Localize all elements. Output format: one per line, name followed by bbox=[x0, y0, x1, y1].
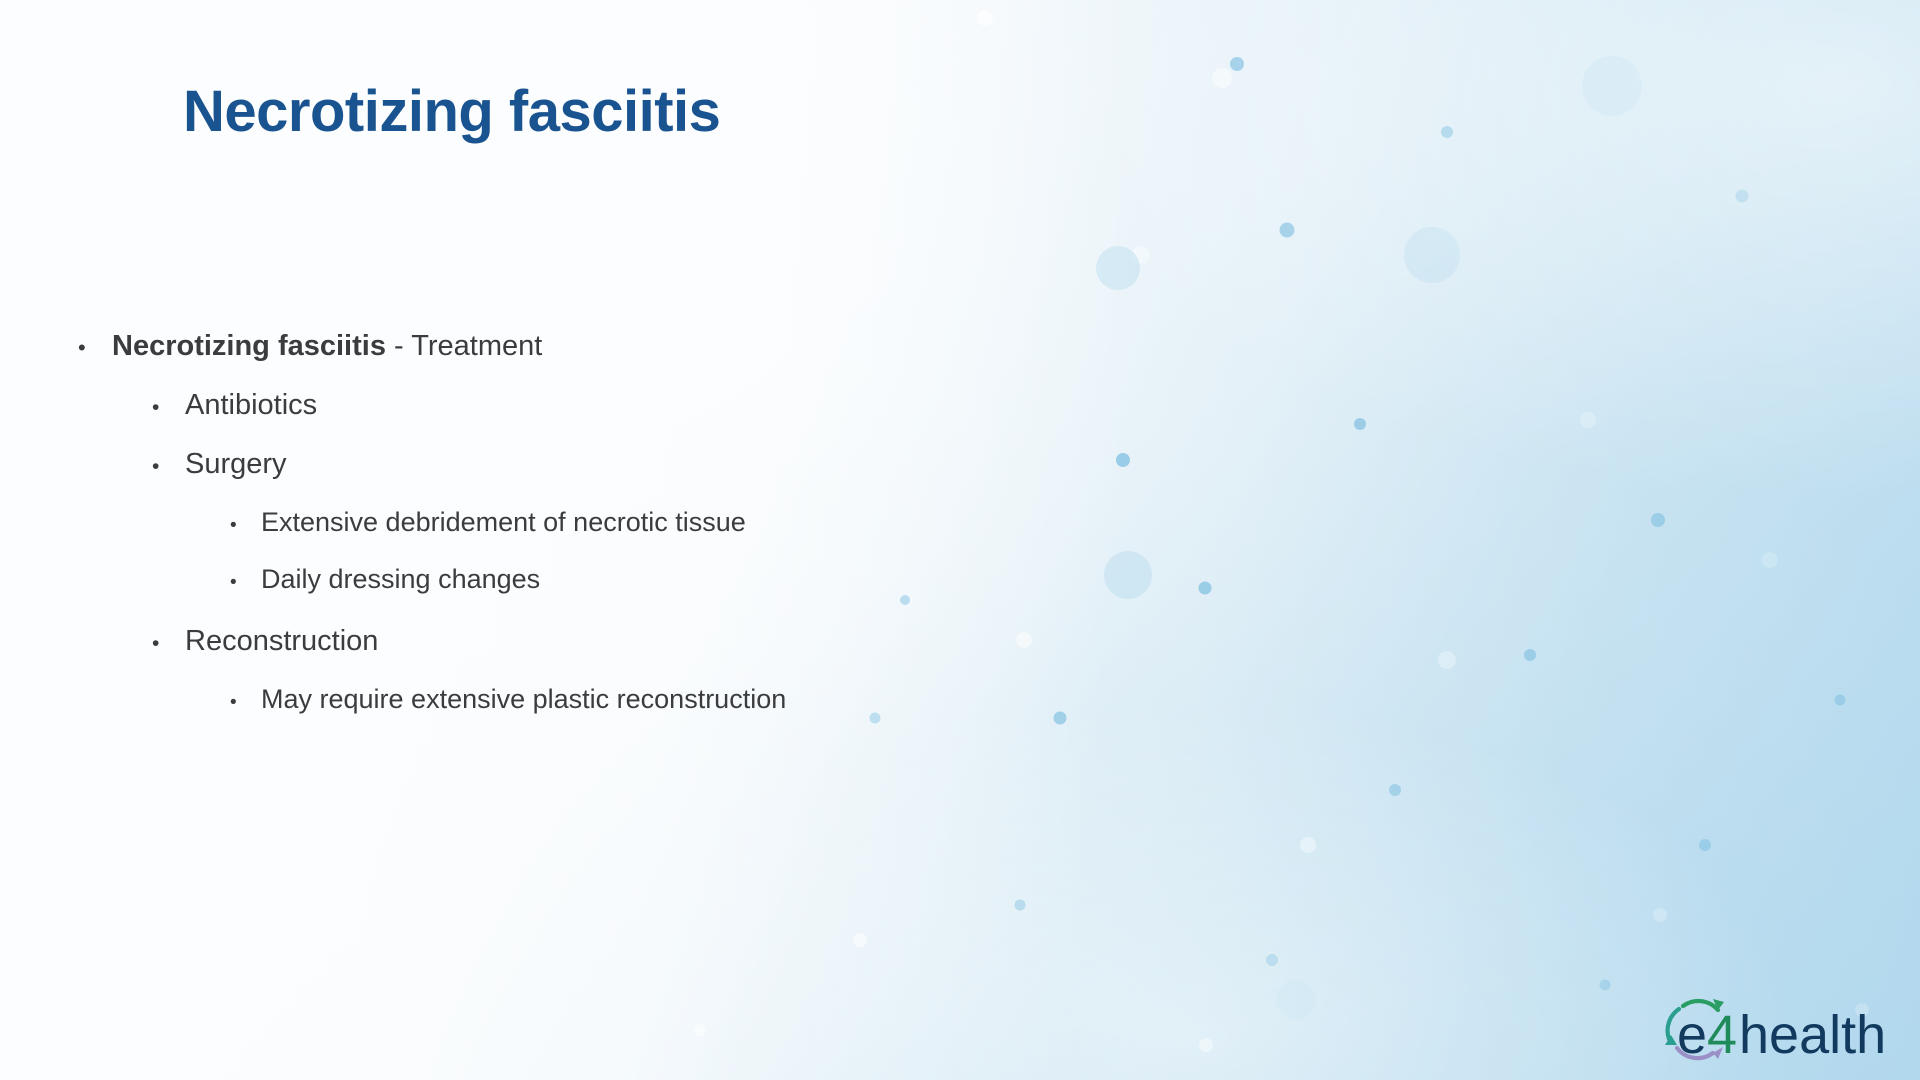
bullet-label: Necrotizing fasciitis - Treatment bbox=[112, 330, 542, 363]
slide-title: Necrotizing fasciitis bbox=[183, 78, 720, 145]
bullet-label: May require extensive plastic reconstruc… bbox=[261, 684, 786, 715]
bullet-item-debridement: • Extensive debridement of necrotic tiss… bbox=[230, 507, 1178, 538]
bullet-marker-icon: • bbox=[230, 692, 261, 714]
bullet-item-level1: • Necrotizing fasciitis - Treatment bbox=[78, 330, 1178, 363]
bullet-marker-icon: • bbox=[152, 396, 185, 420]
bullet-marker-icon: • bbox=[230, 572, 261, 594]
bullet-item-dressing-changes: • Daily dressing changes bbox=[230, 564, 1178, 595]
bullet-label: Antibiotics bbox=[185, 389, 317, 422]
bullet-item-reconstruction: • Reconstruction bbox=[152, 625, 1178, 658]
e4health-logo: e 4 health bbox=[1655, 985, 1905, 1075]
bullet-marker-icon: • bbox=[78, 335, 112, 361]
slide-body-list: • Necrotizing fasciitis - Treatment • An… bbox=[78, 330, 1178, 741]
bullet-label: Daily dressing changes bbox=[261, 564, 540, 595]
bullet-label: Extensive debridement of necrotic tissue bbox=[261, 507, 746, 538]
presentation-slide: Necrotizing fasciitis • Necrotizing fasc… bbox=[0, 0, 1920, 1080]
logo-wordmark-accent: 4 bbox=[1707, 1005, 1737, 1065]
bullet-item-plastic-reconstruction: • May require extensive plastic reconstr… bbox=[230, 684, 1178, 715]
bullet-item-antibiotics: • Antibiotics bbox=[152, 389, 1178, 422]
bullet-rest-text: - Treatment bbox=[386, 330, 542, 362]
bullet-marker-icon: • bbox=[230, 515, 261, 537]
logo-wordmark-health: health bbox=[1739, 1005, 1886, 1065]
bullet-label: Reconstruction bbox=[185, 625, 378, 658]
bullet-bold-prefix: Necrotizing fasciitis bbox=[112, 330, 386, 362]
bullet-marker-icon: • bbox=[152, 455, 185, 479]
bullet-label: Surgery bbox=[185, 448, 287, 481]
logo-wordmark-e: e bbox=[1677, 1005, 1707, 1065]
bullet-marker-icon: • bbox=[152, 632, 185, 656]
bullet-item-surgery: • Surgery bbox=[152, 448, 1178, 481]
